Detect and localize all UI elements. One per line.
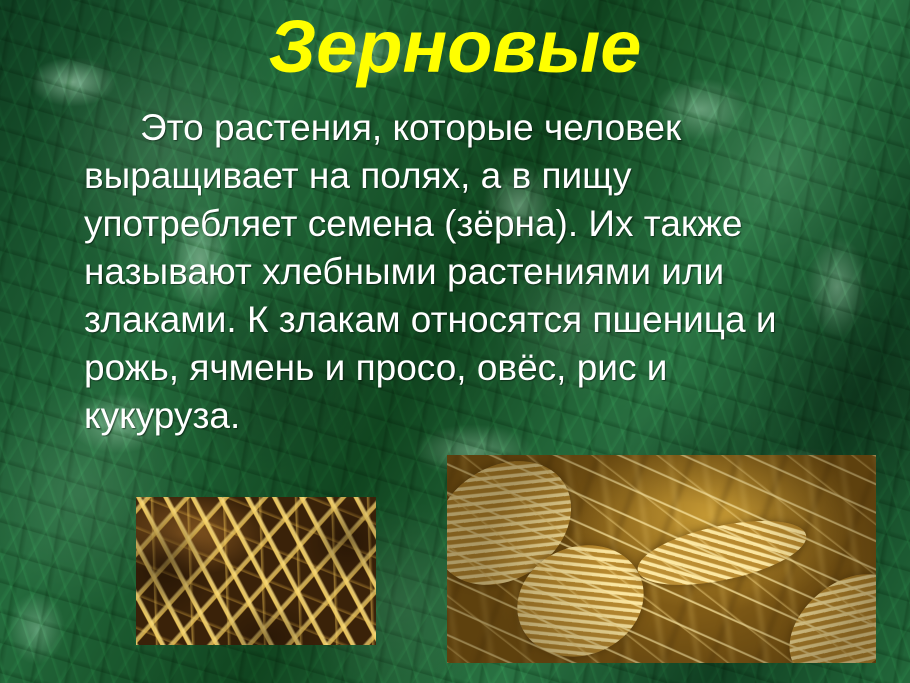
ears-photo-vignette [447, 455, 876, 663]
wheat-ears-photo [447, 455, 876, 663]
slide-title: Зерновые [0, 8, 910, 86]
straw-photo-shading [136, 497, 376, 645]
presentation-slide: Зерновые Это растения, которые человек в… [0, 0, 910, 683]
wheat-straw-photo [136, 497, 376, 645]
slide-body-text: Это растения, которые человек выращивает… [84, 104, 824, 440]
